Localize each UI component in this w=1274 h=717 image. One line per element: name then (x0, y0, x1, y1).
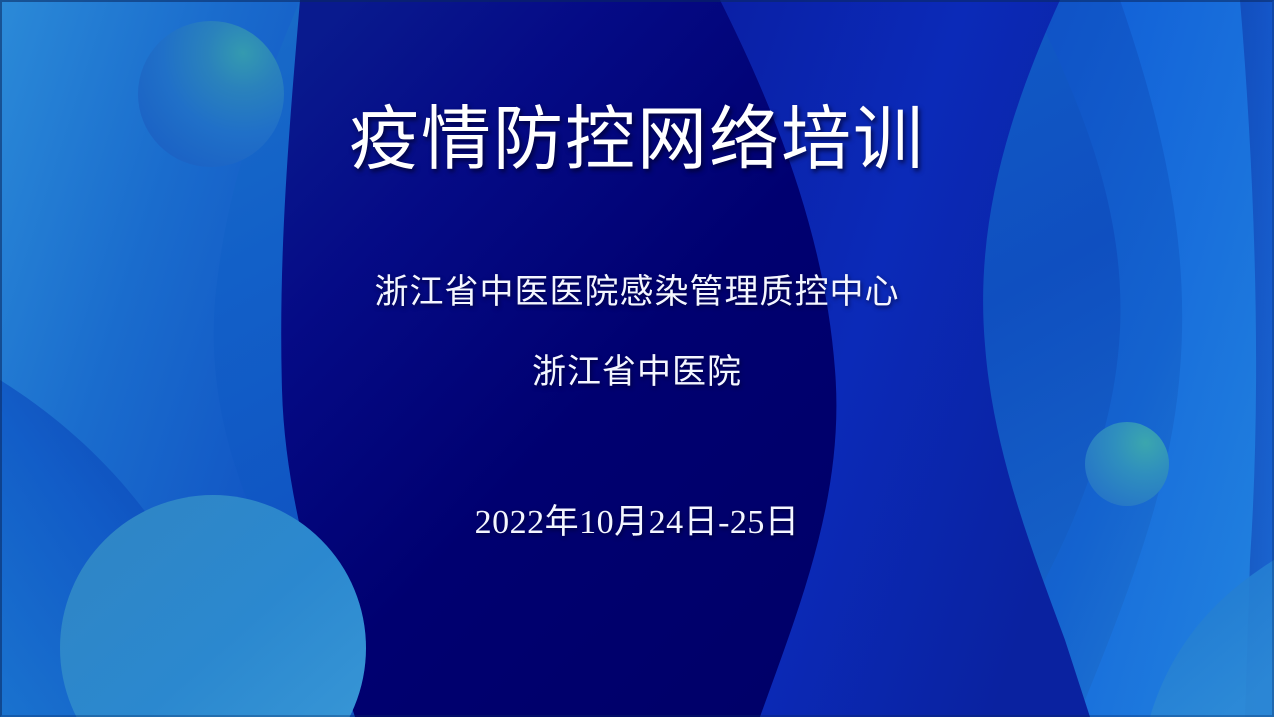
slide-date: 2022年10月24日-25日 (0, 503, 1274, 544)
presentation-slide: 疫情防控网络培训 浙江省中医医院感染管理质控中心 浙江省中医院 2022年10月… (0, 0, 1274, 717)
slide-title: 疫情防控网络培训 (0, 103, 1274, 179)
slide-subtitle-organization: 浙江省中医医院感染管理质控中心 (0, 273, 1274, 314)
slide-subtitle-hospital: 浙江省中医院 (0, 353, 1274, 394)
slide-text-layer: 疫情防控网络培训 浙江省中医医院感染管理质控中心 浙江省中医院 2022年10月… (0, 0, 1274, 717)
